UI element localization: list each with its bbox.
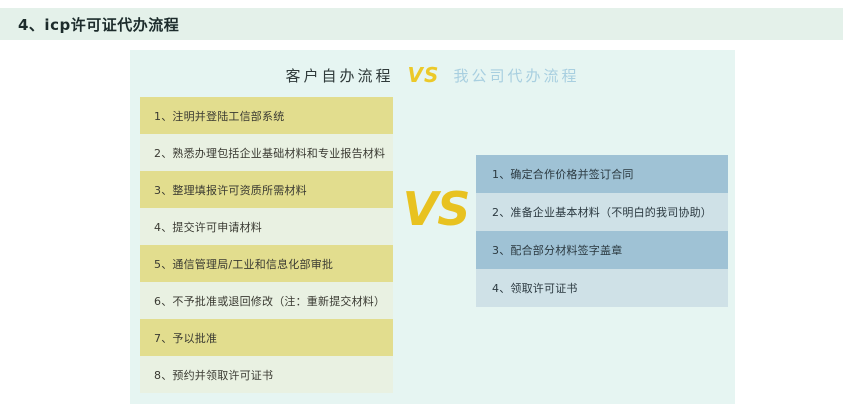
left-step-6: 6、不予批准或退回修改（注：重新提交材料） xyxy=(140,282,393,319)
right-step-2: 2、准备企业基本材料（不明白的我司协助） xyxy=(476,193,728,231)
page-title: 4、icp许可证代办流程 xyxy=(18,14,179,35)
header-vs-label: VS xyxy=(408,63,440,87)
left-step-7: 7、予以批准 xyxy=(140,319,393,356)
left-process-column: 1、注明并登陆工信部系统 2、熟悉办理包括企业基础材料和专业报告材料 3、整理填… xyxy=(140,97,393,393)
header-right-label: 我公司代办流程 xyxy=(453,65,579,86)
left-step-8: 8、预约并领取许可证书 xyxy=(140,356,393,393)
page-title-bar: 4、icp许可证代办流程 xyxy=(0,8,843,40)
left-step-2: 2、熟悉办理包括企业基础材料和专业报告材料 xyxy=(140,134,393,171)
comparison-panel: 客户自办流程 VS 我公司代办流程 1、注明并登陆工信部系统 2、熟悉办理包括企… xyxy=(130,50,735,404)
center-vs-label: VS xyxy=(398,186,474,232)
right-process-column: 1、确定合作价格并签订合同 2、准备企业基本材料（不明白的我司协助） 3、配合部… xyxy=(476,155,728,307)
left-step-5: 5、通信管理局/工业和信息化部审批 xyxy=(140,245,393,282)
left-step-3: 3、整理填报许可资质所需材料 xyxy=(140,171,393,208)
left-step-4: 4、提交许可申请材料 xyxy=(140,208,393,245)
right-step-1: 1、确定合作价格并签订合同 xyxy=(476,155,728,193)
left-step-1: 1、注明并登陆工信部系统 xyxy=(140,97,393,134)
header-left-label: 客户自办流程 xyxy=(286,65,394,86)
right-step-4: 4、领取许可证书 xyxy=(476,269,728,307)
right-step-3: 3、配合部分材料签字盖章 xyxy=(476,231,728,269)
panel-header: 客户自办流程 VS 我公司代办流程 xyxy=(130,58,735,92)
